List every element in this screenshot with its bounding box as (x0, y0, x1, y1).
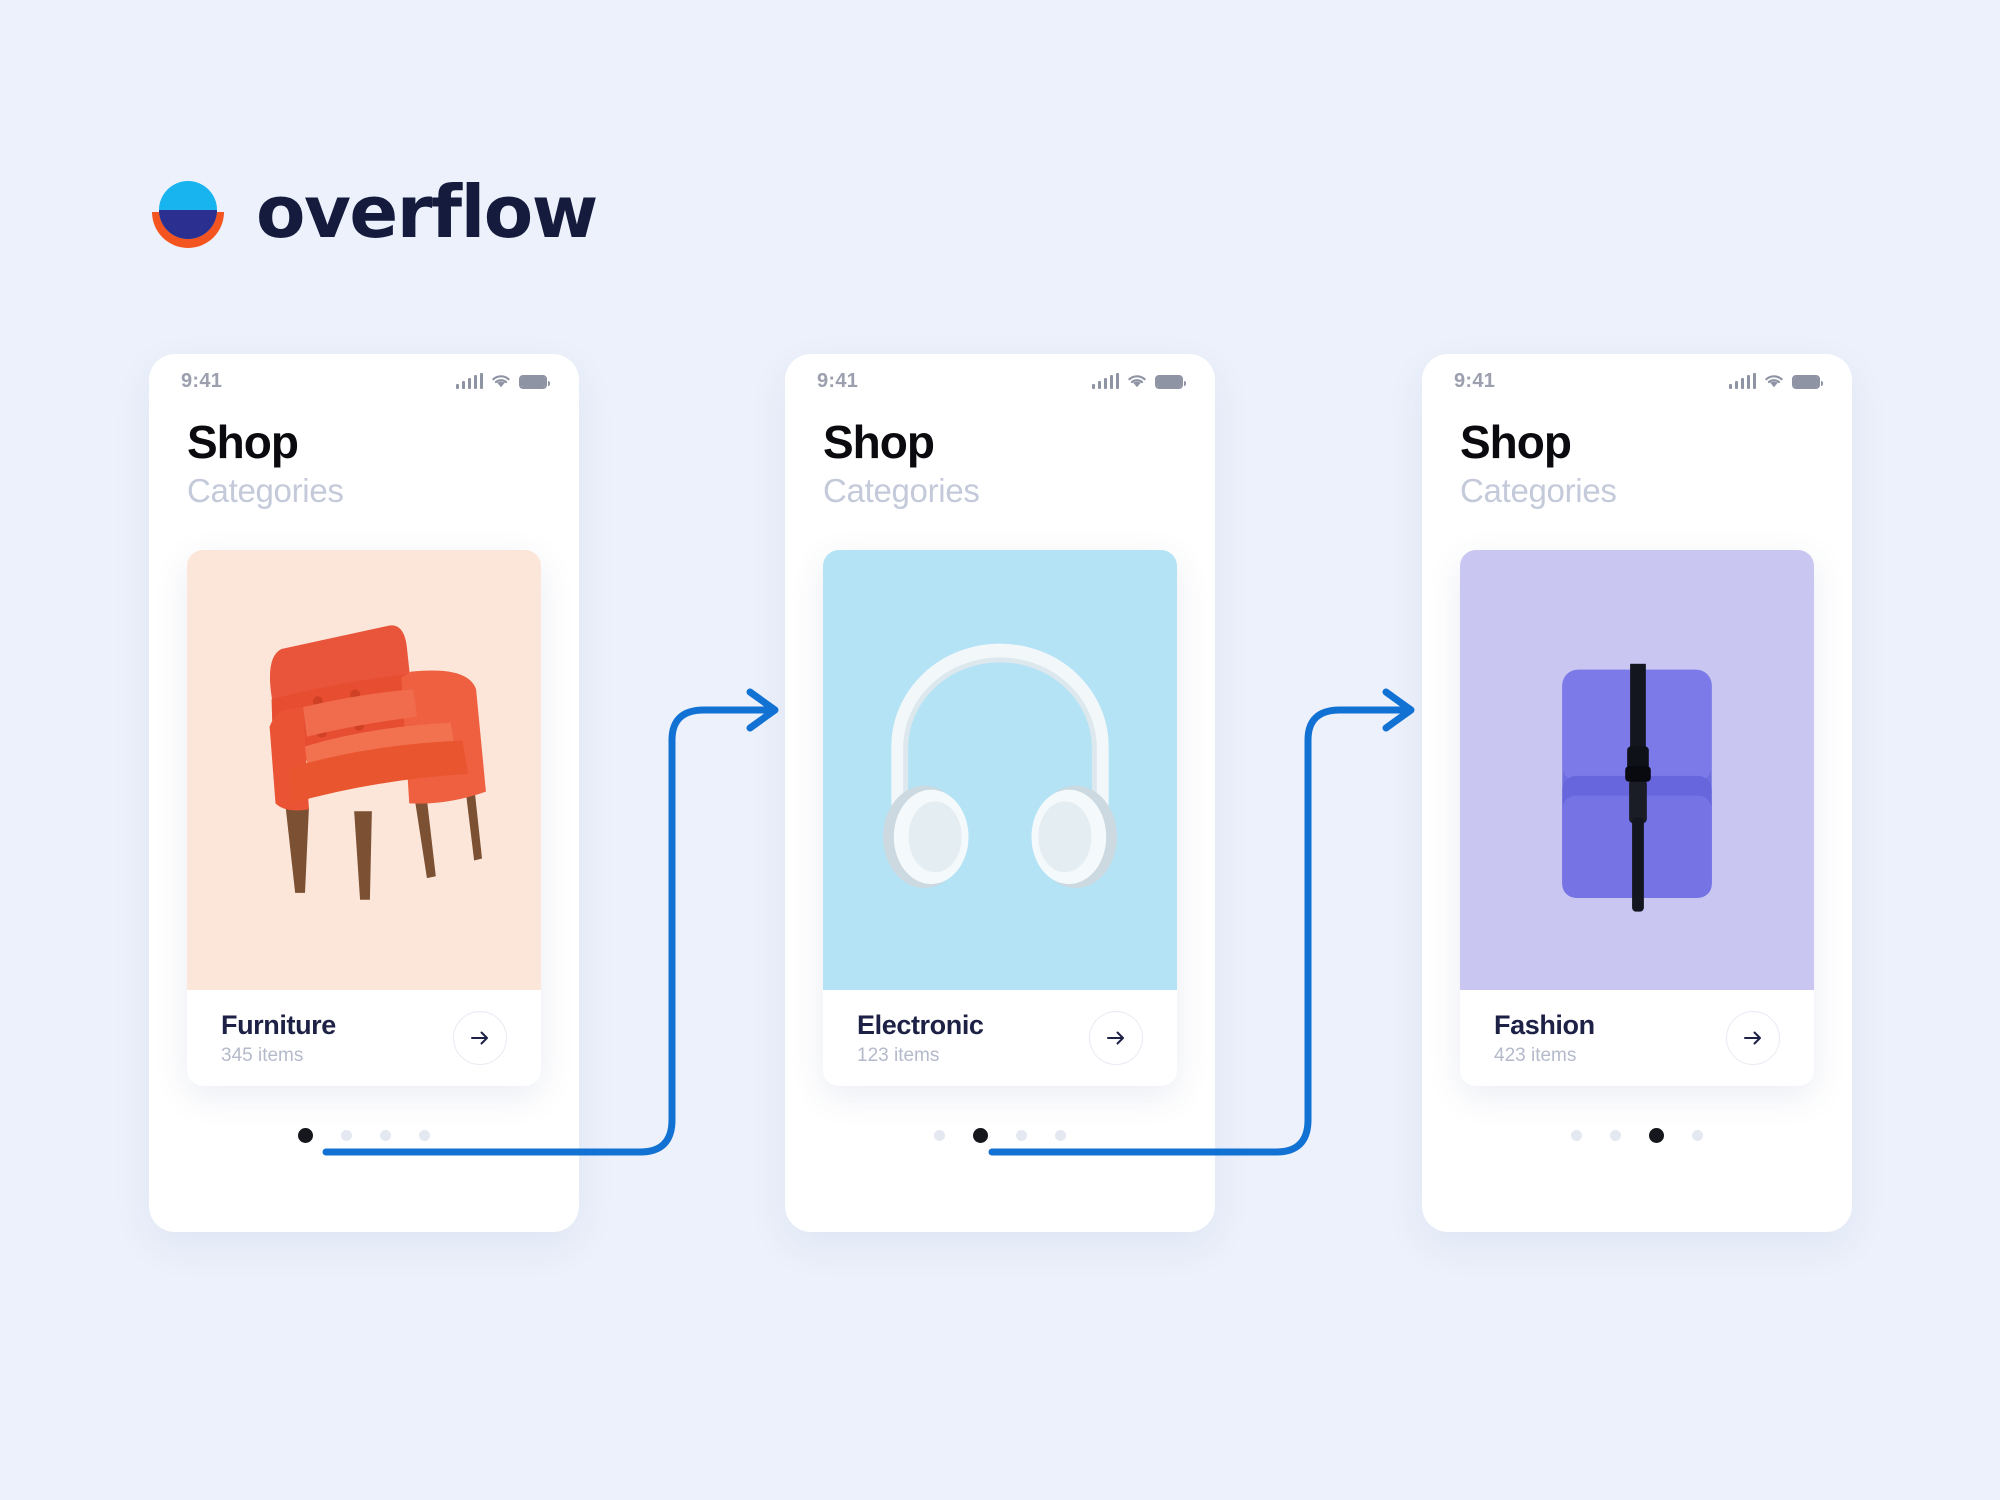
pager-dot[interactable] (1055, 1130, 1066, 1141)
category-item-count: 423 items (1494, 1045, 1595, 1067)
wifi-icon (491, 373, 511, 389)
category-name: Furniture (221, 1010, 336, 1041)
screen-header: Shop Categories (785, 408, 1215, 510)
status-time: 9:41 (817, 370, 858, 393)
signal-bars-icon (456, 373, 484, 389)
pager-dots-furniture[interactable] (149, 1128, 579, 1143)
backpack-image (1460, 550, 1814, 990)
pager-dot[interactable] (1692, 1130, 1703, 1141)
wifi-icon (1127, 373, 1147, 389)
pager-dot[interactable] (298, 1128, 313, 1143)
page-title: Shop (187, 418, 541, 466)
pager-dot[interactable] (419, 1130, 430, 1141)
signal-bars-icon (1729, 373, 1757, 389)
screen-header: Shop Categories (149, 408, 579, 510)
pager-dot[interactable] (1016, 1130, 1027, 1141)
pager-dot[interactable] (380, 1130, 391, 1141)
battery-icon (519, 375, 547, 389)
page-subtitle: Categories (823, 472, 1177, 510)
phone-screen-furniture: 9:41 Shop Categories (149, 354, 579, 1232)
phone-screen-electronic: 9:41 Shop Categories (785, 354, 1215, 1232)
arrow-right-icon[interactable] (453, 1011, 507, 1065)
category-item-count: 123 items (857, 1045, 984, 1067)
status-bar: 9:41 (149, 354, 579, 408)
pager-dots-electronic[interactable] (785, 1128, 1215, 1143)
signal-bars-icon (1092, 373, 1120, 389)
status-indicators (456, 373, 548, 389)
status-indicators (1729, 373, 1821, 389)
brand-wordmark: overflow (256, 176, 597, 248)
category-card-footer: Electronic 123 items (823, 990, 1177, 1086)
category-card-fashion[interactable]: Fashion 423 items (1460, 550, 1814, 1086)
arrow-right-icon[interactable] (1089, 1011, 1143, 1065)
pager-dot[interactable] (973, 1128, 988, 1143)
page-title: Shop (823, 418, 1177, 466)
headphones-image (823, 550, 1177, 990)
brand-logo: overflow (146, 170, 597, 254)
phone-screen-fashion: 9:41 Shop Categories (1422, 354, 1852, 1232)
overflow-logo-icon (146, 170, 230, 254)
status-time: 9:41 (181, 370, 222, 393)
status-bar: 9:41 (1422, 354, 1852, 408)
status-time: 9:41 (1454, 370, 1495, 393)
page-subtitle: Categories (1460, 472, 1814, 510)
pager-dot[interactable] (1610, 1130, 1621, 1141)
category-card-electronic[interactable]: Electronic 123 items (823, 550, 1177, 1086)
pager-dot[interactable] (341, 1130, 352, 1141)
category-name: Fashion (1494, 1010, 1595, 1041)
screen-header: Shop Categories (1422, 408, 1852, 510)
category-info: Electronic 123 items (857, 1010, 984, 1067)
category-card-footer: Fashion 423 items (1460, 990, 1814, 1086)
arrow-right-icon[interactable] (1726, 1011, 1780, 1065)
armchair-image (187, 550, 541, 990)
battery-icon (1155, 375, 1183, 389)
category-card-footer: Furniture 345 items (187, 990, 541, 1086)
page-title: Shop (1460, 418, 1814, 466)
wifi-icon (1764, 373, 1784, 389)
category-name: Electronic (857, 1010, 984, 1041)
status-bar: 9:41 (785, 354, 1215, 408)
category-item-count: 345 items (221, 1045, 336, 1067)
pager-dot[interactable] (1571, 1130, 1582, 1141)
category-info: Furniture 345 items (221, 1010, 336, 1067)
status-indicators (1092, 373, 1184, 389)
category-info: Fashion 423 items (1494, 1010, 1595, 1067)
battery-icon (1792, 375, 1820, 389)
pager-dot[interactable] (1649, 1128, 1664, 1143)
page-subtitle: Categories (187, 472, 541, 510)
category-card-furniture[interactable]: Furniture 345 items (187, 550, 541, 1086)
pager-dots-fashion[interactable] (1422, 1128, 1852, 1143)
pager-dot[interactable] (934, 1130, 945, 1141)
